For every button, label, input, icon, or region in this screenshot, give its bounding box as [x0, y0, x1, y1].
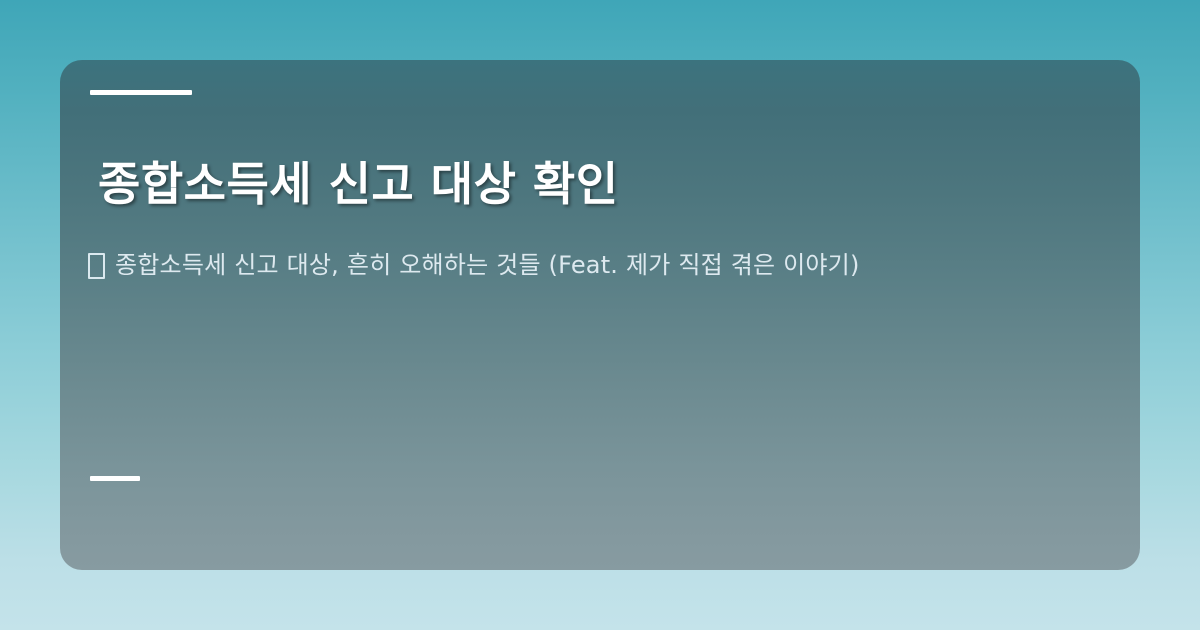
page-subtitle: 종합소득세 신고 대상, 흔히 오해하는 것들 (Feat. 제가 직접 겪은 … [115, 250, 860, 281]
thumbnail-canvas: 종합소득세 신고 대상 확인 종합소득세 신고 대상, 흔히 오해하는 것들 (… [0, 0, 1200, 630]
page-title: 종합소득세 신고 대상 확인 [98, 156, 619, 214]
bottom-accent-rule [90, 476, 140, 481]
missing-glyph-icon [88, 253, 105, 279]
subtitle-row: 종합소득세 신고 대상, 흔히 오해하는 것들 (Feat. 제가 직접 겪은 … [88, 250, 860, 281]
content-card: 종합소득세 신고 대상 확인 종합소득세 신고 대상, 흔히 오해하는 것들 (… [60, 60, 1140, 570]
top-accent-rule [90, 90, 192, 95]
